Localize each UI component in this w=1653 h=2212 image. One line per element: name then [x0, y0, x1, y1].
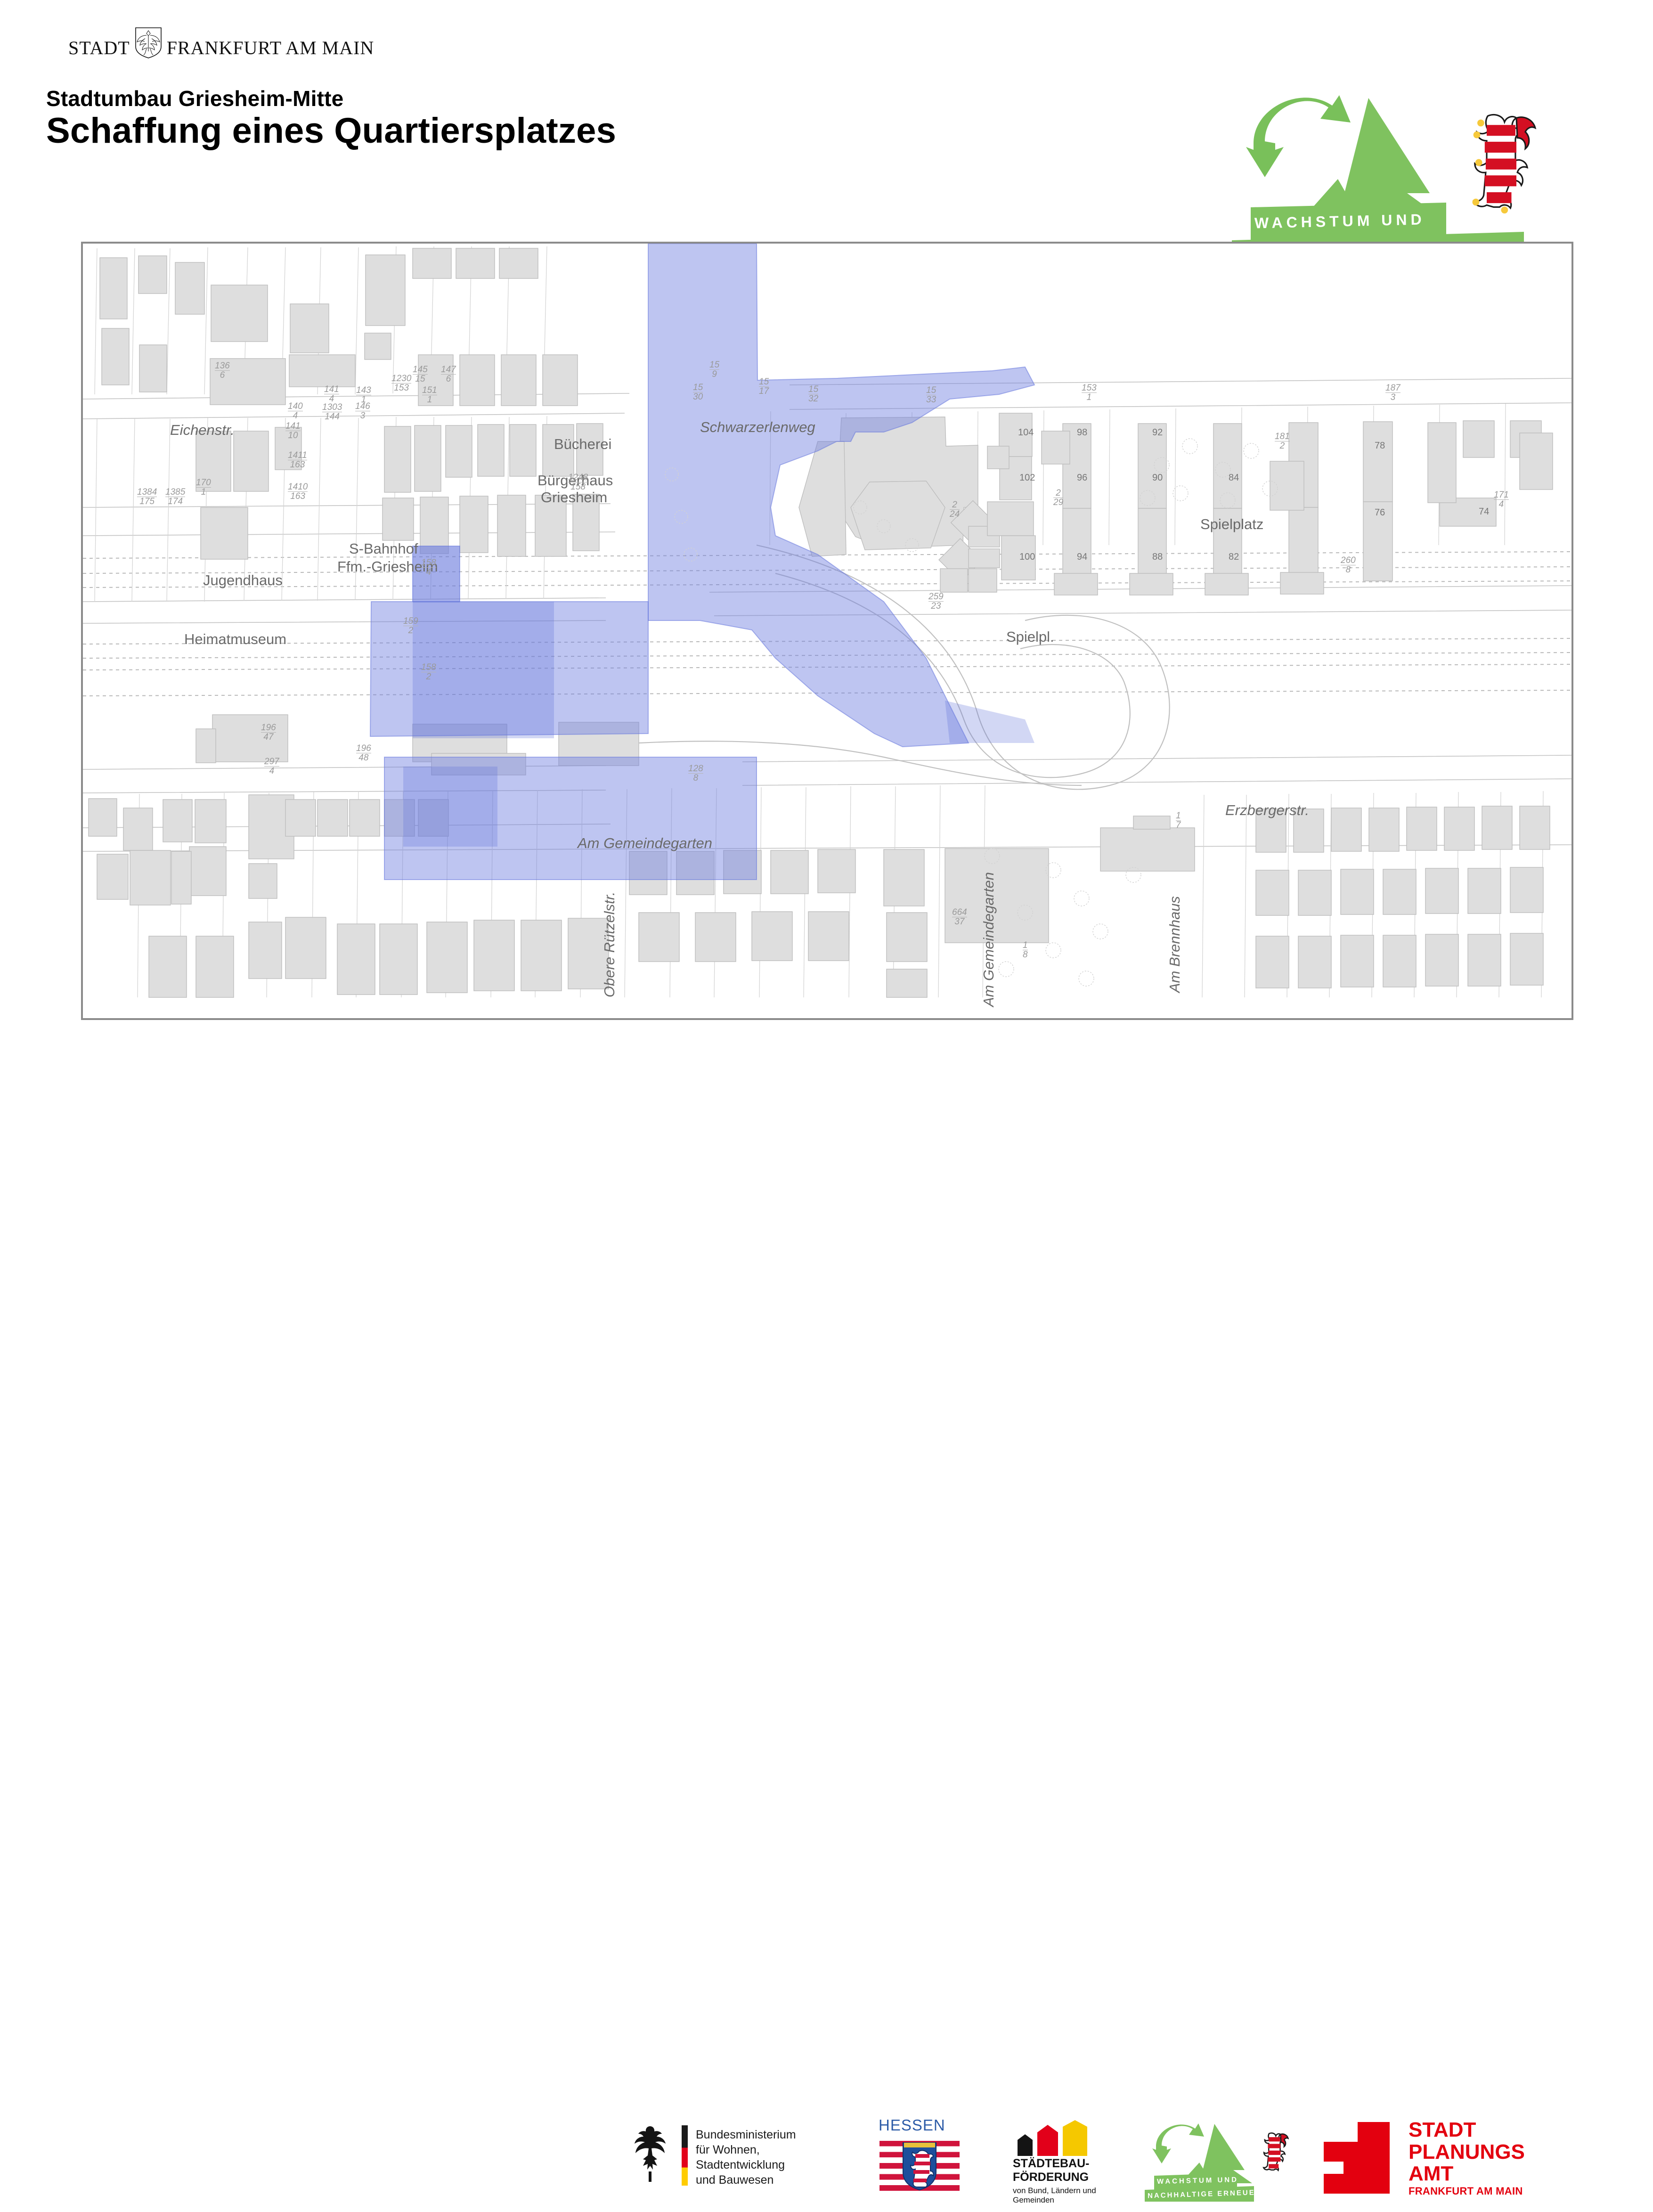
- stadt-frankfurt-logo: STADT FRANKFURT AM MAIN: [68, 26, 370, 59]
- wne-line1: WACHSTUM UND: [1254, 211, 1425, 232]
- parcel-label: 1533: [926, 386, 936, 404]
- parcel-label: 17: [1176, 811, 1181, 830]
- city-logo-right-text: FRANKFURT AM MAIN: [167, 37, 375, 59]
- house-number: 102: [1019, 473, 1035, 483]
- staedtebau-line1: STÄDTEBAU-: [1013, 2157, 1090, 2171]
- street-label-am-gemeindegarten: Am Gemeindegarten: [578, 835, 712, 852]
- street-label-am-brennhaus: Am Brennhaus: [1166, 896, 1183, 993]
- bundesadler-icon: [624, 2122, 676, 2185]
- frankfurt-eagle-crest-icon: [134, 26, 163, 59]
- parcel-label: 1531: [1082, 384, 1097, 402]
- hessen-shield-icon: [901, 2141, 938, 2192]
- hessen-logo: HESSEN: [879, 2116, 963, 2192]
- parcel-label: 1592: [403, 617, 418, 635]
- parcel-label: 2608: [1341, 556, 1356, 574]
- spa-line2: PLANUNGS: [1409, 2141, 1525, 2163]
- parcel-label: 1248158: [568, 473, 588, 491]
- house-number: 100: [1019, 552, 1035, 563]
- page-title: Schaffung eines Quartiersplatzes: [46, 113, 616, 149]
- parcel-label: 1411163: [288, 451, 307, 469]
- parcel-label: 1384175: [137, 488, 157, 506]
- bmwsb-line3: und Bauwesen: [696, 2172, 850, 2188]
- street-label-erzbergerstr: Erzbergerstr.: [1225, 802, 1309, 819]
- spa-line1: STADT: [1409, 2119, 1525, 2141]
- house-number: 82: [1229, 552, 1239, 563]
- page-footer: Bundesministerium für Wohnen, Stadtentwi…: [0, 1051, 1653, 1168]
- parcel-label: 1410163: [288, 482, 308, 501]
- parcel-label: 1873: [1385, 384, 1401, 402]
- staedtebau-text: STÄDTEBAU- FÖRDERUNG: [1013, 2157, 1090, 2184]
- poi-buecherei: Bücherei: [554, 436, 611, 453]
- parcel-label: 1414: [324, 385, 339, 403]
- parcel-label: 14515: [413, 365, 428, 384]
- house-number: 90: [1152, 473, 1163, 483]
- poi-heimatmuseum: Heimatmuseum: [184, 631, 286, 648]
- parcel-label: 1288: [688, 764, 703, 783]
- spa-sub: FRANKFURT AM MAIN: [1409, 2185, 1523, 2197]
- wne-foot-line3: STÄDTEBAUFÖRDERUNG HESSEN: [1148, 2201, 1254, 2212]
- parcel-label: 1385174: [165, 488, 185, 506]
- house-number: 96: [1077, 473, 1087, 483]
- parcel-label: 1582: [421, 663, 436, 681]
- parcel-label: 1530: [693, 383, 703, 401]
- parcel-label: 1366: [215, 361, 230, 380]
- parcel-label: 14110: [285, 422, 301, 440]
- parcel-label: 66437: [952, 908, 967, 926]
- parcel-label: 224: [950, 500, 960, 519]
- german-flag-bar-icon: [682, 2125, 688, 2186]
- parcel-label: 1230153: [391, 374, 411, 392]
- house-number: 94: [1077, 552, 1087, 563]
- city-logo-left-text: STADT: [68, 37, 130, 59]
- house-number: 104: [1018, 427, 1034, 438]
- house-number: 78: [1375, 441, 1385, 451]
- house-number: 84: [1229, 473, 1239, 483]
- parcel-label: 229: [1053, 489, 1063, 507]
- staedtebau-sub1: von Bund, Ländern und: [1013, 2186, 1096, 2196]
- parcel-label: 1517: [759, 377, 769, 396]
- bmwsb-line1: Bundesministerium: [696, 2127, 850, 2142]
- project-subtitle: Stadtumbau Griesheim-Mitte: [46, 86, 343, 111]
- bmwsb-line2: für Wohnen, Stadtentwicklung: [696, 2142, 850, 2172]
- poi-jugendhaus: Jugendhaus: [203, 572, 283, 589]
- bmwsb-logo: Bundesministerium für Wohnen, Stadtentwi…: [624, 2122, 850, 2188]
- staedtebau-sub: von Bund, Ländern und Gemeinden: [1013, 2186, 1096, 2205]
- parcel-label: 18: [1023, 941, 1028, 959]
- parcel-label: 1532: [808, 385, 818, 403]
- spa-mark-icon: [1324, 2122, 1390, 2194]
- house-number: 88: [1152, 552, 1163, 563]
- parcel-label: 19648: [356, 744, 371, 762]
- house-number: 98: [1077, 427, 1087, 438]
- hessen-wordmark: HESSEN: [879, 2116, 963, 2134]
- street-label-schwarzerlenweg: Schwarzerlenweg: [700, 419, 815, 436]
- street-label-obere-ruetzelstr: Obere Rützelstr.: [601, 891, 618, 997]
- parcel-label: 1463: [355, 402, 370, 420]
- parcel-label: 1476: [441, 365, 456, 384]
- parcel-label: 1404: [288, 402, 303, 420]
- parcel-label: 25923: [928, 592, 944, 611]
- map-canvas: Eichenstr. Schwarzerlenweg Am Gemeindega…: [83, 244, 1572, 1018]
- stadtplanungsamt-logo: STADT PLANUNGS AMT FRANKFURT AM MAIN: [1305, 2119, 1569, 2199]
- staedtebau-sub2: Gemeinden: [1013, 2196, 1096, 2205]
- parcel-label: 1303144: [322, 403, 342, 421]
- house-number: 74: [1479, 506, 1489, 517]
- house-number: 76: [1375, 507, 1385, 518]
- parcel-label: 2974: [264, 757, 279, 775]
- house-number: 92: [1152, 427, 1163, 438]
- parcel-label: 19647: [261, 723, 276, 742]
- parcel-label: 1584: [421, 558, 436, 577]
- parcel-label: 1511: [422, 386, 437, 404]
- cadastral-map[interactable]: Eichenstr. Schwarzerlenweg Am Gemeindega…: [81, 242, 1573, 1020]
- wachstum-erneuerung-logo-footer: WACHSTUM UND NACHHALTIGE ERNEUERUNG STÄD…: [1145, 2119, 1300, 2199]
- poi-spielpl: Spielpl.: [1006, 629, 1054, 645]
- spa-text: STADT PLANUNGS AMT: [1409, 2119, 1525, 2185]
- poi-s-bahnhof: S-Bahnhof: [349, 540, 418, 557]
- staedtebau-line2: FÖRDERUNG: [1013, 2171, 1090, 2184]
- parcel-label: 1714: [1494, 490, 1509, 509]
- parcel-label: 159: [709, 360, 719, 379]
- parcel-label: 1701: [196, 478, 211, 497]
- spa-line3: AMT: [1409, 2163, 1525, 2185]
- parcel-label: 1812: [1275, 432, 1290, 450]
- page-header: STADT FRANKFURT AM MAIN Stadt: [0, 0, 1653, 236]
- bmwsb-text: Bundesministerium für Wohnen, Stadtentwi…: [696, 2127, 850, 2188]
- map-vector-layer: [83, 244, 1572, 1018]
- poi-spielplatz: Spielplatz: [1200, 516, 1263, 533]
- three-houses-icon: [1013, 2120, 1112, 2156]
- street-label-eichenstr: Eichenstr.: [170, 422, 235, 439]
- street-label-am-gemeindegarten-vertical: Am Gemeindegarten: [980, 872, 997, 1007]
